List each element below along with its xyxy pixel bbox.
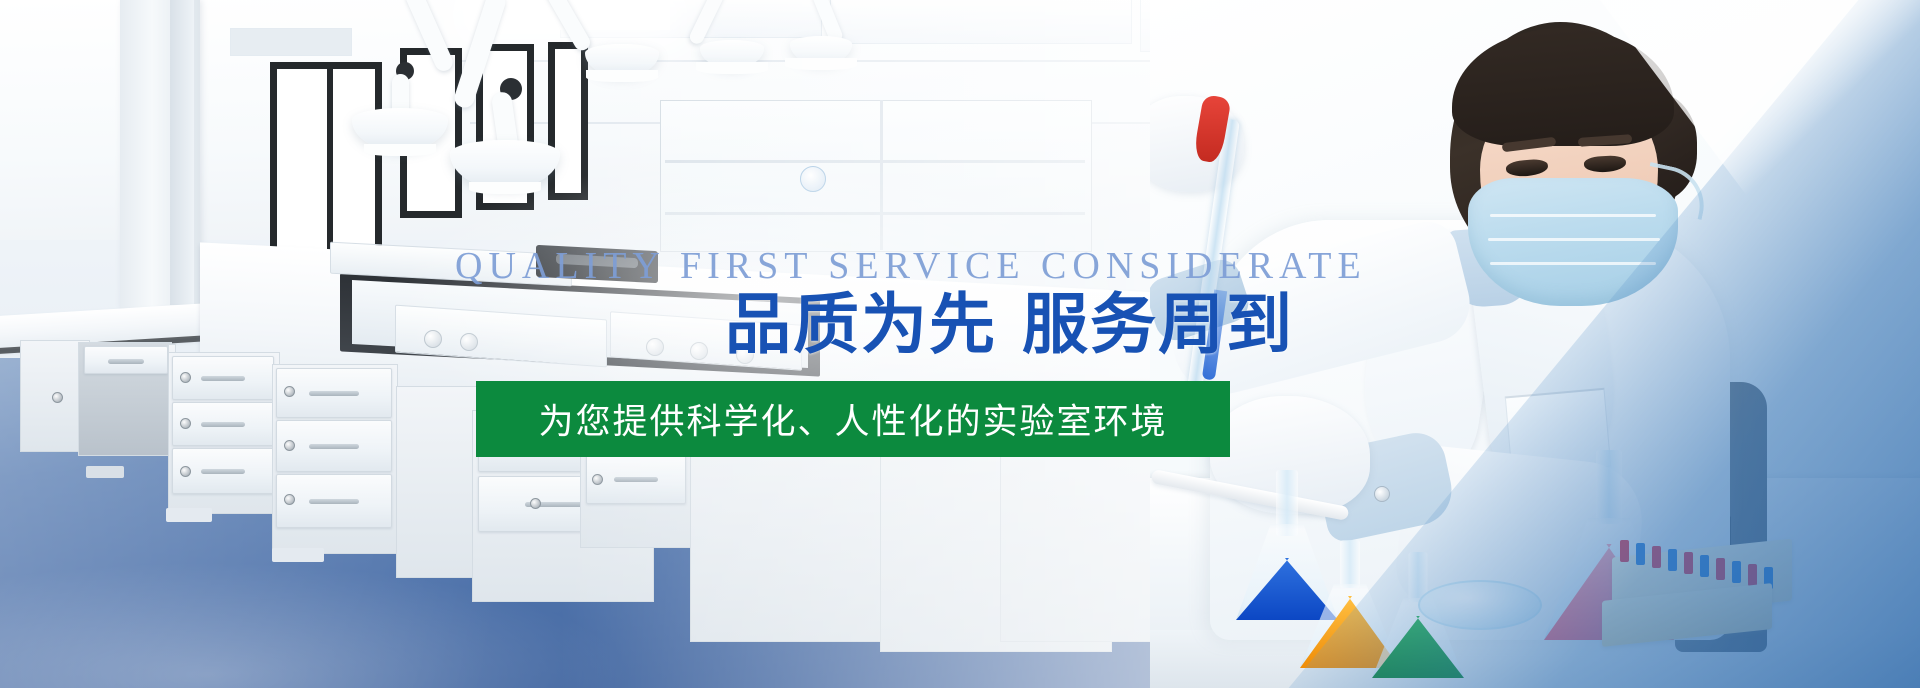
pendant-lamp bbox=[700, 40, 764, 68]
bench-foot bbox=[86, 466, 124, 478]
pendant-lamp bbox=[790, 36, 852, 64]
test-tube bbox=[1700, 555, 1709, 577]
test-tube bbox=[1620, 540, 1629, 562]
pendant-lamp bbox=[585, 44, 659, 76]
drawer-lock-icon bbox=[180, 466, 191, 477]
bench-foot bbox=[272, 548, 324, 562]
drawer-lock-icon bbox=[530, 498, 541, 509]
shelf-line bbox=[665, 160, 1085, 163]
drawer-lock-icon bbox=[180, 418, 191, 429]
test-tube bbox=[1668, 549, 1677, 571]
ceiling-panel bbox=[830, 0, 1132, 44]
subtext-green-banner: 为您提供科学化、人性化的实验室环境 bbox=[476, 381, 1230, 457]
drawer-lock-icon bbox=[592, 474, 603, 485]
drawer-lock-icon bbox=[180, 372, 191, 383]
mask-pleat bbox=[1488, 238, 1660, 241]
drawer-lock-icon bbox=[284, 386, 295, 397]
petri-dish bbox=[1418, 580, 1542, 630]
service-knob bbox=[424, 330, 442, 348]
drawer-lock-icon bbox=[284, 494, 295, 505]
shelf-line bbox=[665, 212, 1085, 215]
test-tube bbox=[1732, 561, 1741, 583]
subtext: 为您提供科学化、人性化的实验室环境 bbox=[476, 394, 1230, 445]
scientist-photo bbox=[1150, 0, 1920, 688]
drawer-lock-icon bbox=[284, 440, 295, 451]
service-knob bbox=[646, 338, 664, 356]
window bbox=[270, 62, 382, 260]
shelf-label-icon bbox=[800, 166, 826, 192]
drawer bbox=[84, 346, 168, 374]
bench-foot bbox=[166, 508, 212, 522]
test-tube bbox=[1684, 552, 1693, 574]
test-tube bbox=[1716, 558, 1725, 580]
mask-pleat bbox=[1490, 214, 1656, 217]
test-tube bbox=[1748, 564, 1757, 586]
shelf-divider bbox=[880, 100, 883, 250]
service-knob bbox=[460, 333, 478, 351]
pendant-lamp bbox=[352, 108, 448, 150]
test-tube bbox=[1652, 546, 1661, 568]
test-tube bbox=[1636, 543, 1645, 565]
cuff-button bbox=[1374, 486, 1390, 502]
back-shelf-unit bbox=[660, 100, 1092, 252]
window bbox=[548, 42, 588, 200]
ceiling-vent bbox=[230, 28, 352, 56]
structural-pillar-edge bbox=[170, 0, 194, 305]
hero-banner: QUALITY FIRST SERVICE CONSIDERATE 品质为先 服… bbox=[0, 0, 1920, 688]
cabinet-lock-icon bbox=[52, 392, 63, 403]
mask-pleat bbox=[1490, 262, 1656, 265]
service-knob bbox=[690, 342, 708, 360]
service-knob bbox=[736, 346, 754, 364]
